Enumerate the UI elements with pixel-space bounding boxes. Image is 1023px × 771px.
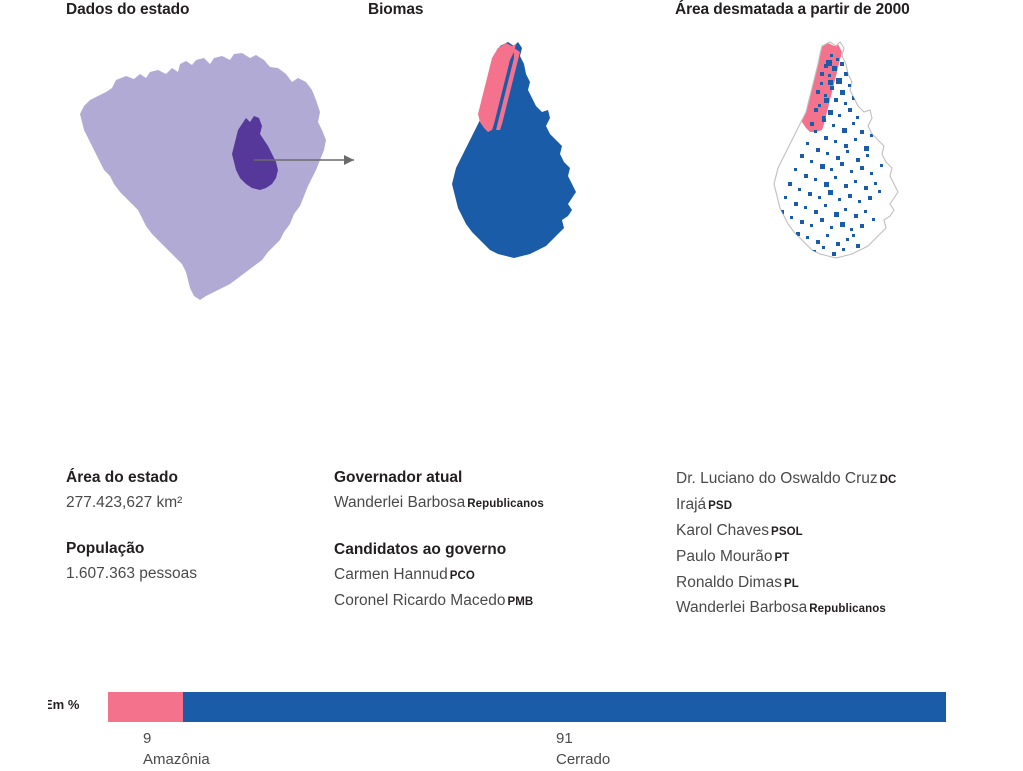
candidate-entry: IrajáPSD (676, 492, 1016, 518)
bar-unit-label: Em % (48, 697, 100, 712)
brazil-locator-map (54, 34, 354, 304)
deforestation-map (760, 34, 920, 289)
candidate-name: Carmen Hannud (334, 566, 448, 583)
candidates-label: Candidatos ao governo (334, 538, 664, 562)
block-population: População 1.607.363 pessoas (66, 537, 316, 586)
bar-track (108, 692, 946, 722)
bar-segment-amazonia (108, 692, 183, 722)
current-governor-entry: Wanderlei BarbosaRepublicanos (334, 490, 664, 516)
biomas-map (438, 34, 598, 289)
candidate-name: Ronaldo Dimas (676, 574, 782, 591)
candidate-entry: Paulo MourãoPT (676, 544, 1016, 570)
area-value: 277.423,627 km² (66, 490, 316, 515)
area-label: Área do estado (66, 466, 316, 490)
candidate-party: PSD (708, 500, 732, 512)
panel-title-biomas: Biomas (368, 0, 658, 20)
candidate-name: Coronel Ricardo Macedo (334, 592, 505, 609)
bar-label-amazonia: 9 Amazônia (143, 728, 210, 771)
column-governor: Governador atual Wanderlei BarbosaRepubl… (334, 466, 664, 614)
current-governor-name: Wanderlei Barbosa (334, 494, 465, 511)
population-value: 1.607.363 pessoas (66, 561, 316, 586)
candidate-entry: Wanderlei BarbosaRepublicanos (676, 595, 1016, 621)
candidate-name: Wanderlei Barbosa (676, 599, 807, 616)
panel-area-desmatada: Área desmatada a partir de 2000 (675, 0, 975, 20)
panel-biomas: Biomas (368, 0, 658, 20)
candidate-party: PSOL (771, 526, 803, 538)
current-governor-label: Governador atual (334, 466, 664, 490)
candidate-party: PL (784, 578, 799, 590)
candidate-name: Karol Chaves (676, 522, 769, 539)
panel-dados-do-estado: Dados do estado (66, 0, 366, 20)
candidate-entry: Ronaldo DimasPL (676, 570, 1016, 596)
bar-segment-cerrado (183, 692, 946, 722)
state-data-row: Área do estado 277.423,627 km² População… (0, 466, 1023, 634)
candidate-entry: Carmen HannudPCO (334, 562, 664, 588)
candidate-name: Paulo Mourão (676, 548, 773, 565)
candidate-party: Republicanos (809, 603, 886, 615)
candidate-entry: Karol ChavesPSOL (676, 518, 1016, 544)
candidate-name: Dr. Luciano do Oswaldo Cruz (676, 470, 878, 487)
column-candidates: Dr. Luciano do Oswaldo CruzDC IrajáPSD K… (676, 466, 1016, 621)
candidate-party: PT (775, 552, 790, 564)
block-candidates-left: Candidatos ao governo Carmen HannudPCO C… (334, 538, 664, 614)
biomas-stacked-bar-chart: Em % 9 Amazônia 91 Cerrado (0, 340, 1023, 440)
candidate-entry: Dr. Luciano do Oswaldo CruzDC (676, 466, 1016, 492)
block-current-governor: Governador atual Wanderlei BarbosaRepubl… (334, 466, 664, 516)
maps-row: Dados do estado Biomas (0, 0, 1023, 330)
panel-title-area-desmatada: Área desmatada a partir de 2000 (675, 0, 975, 20)
candidate-party: PCO (450, 570, 475, 582)
candidate-party: DC (880, 474, 897, 486)
column-state-stats: Área do estado 277.423,627 km² População… (66, 466, 316, 586)
bar-name-amazonia: Amazônia (143, 749, 210, 770)
bar-name-cerrado: Cerrado (556, 749, 610, 770)
candidate-name: Irajá (676, 496, 706, 513)
bar-label-cerrado: 91 Cerrado (556, 728, 610, 771)
bar-value-amazonia: 9 (143, 728, 210, 749)
current-governor-party: Republicanos (467, 498, 544, 510)
block-area: Área do estado 277.423,627 km² (66, 466, 316, 515)
population-label: População (66, 537, 316, 561)
panel-title-dados-do-estado: Dados do estado (66, 0, 366, 20)
candidate-entry: Coronel Ricardo MacedoPMB (334, 588, 664, 614)
bar-value-cerrado: 91 (556, 728, 610, 749)
brazil-outline-shape (80, 53, 326, 300)
candidate-party: PMB (507, 596, 533, 608)
amazonia-biome-backdrop (800, 43, 842, 132)
